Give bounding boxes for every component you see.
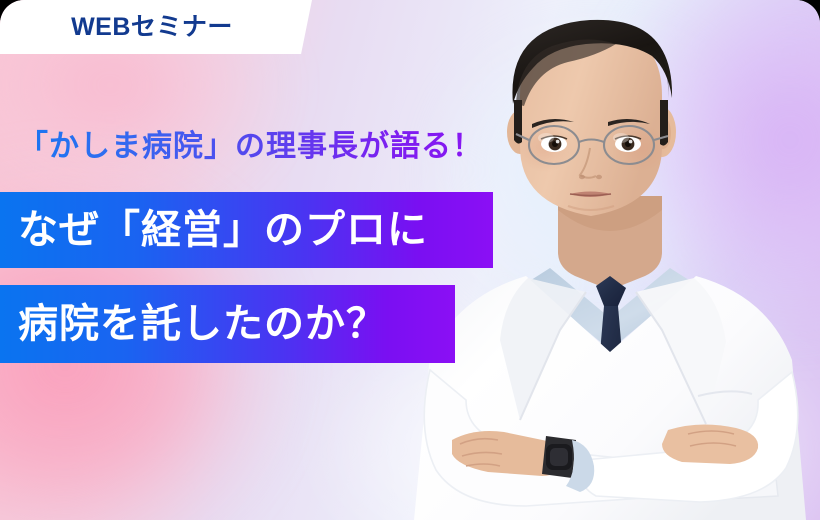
webinar-badge-label: WEBセミナー: [71, 15, 241, 40]
headline-block: 「かしま病院」の理事長が語る！ なぜ「経営」のプロに 病院を託したのか？: [0, 124, 493, 363]
headline-band-2: 病院を託したのか？: [0, 285, 455, 363]
headline-band-2-text: 病院を託したのか？: [0, 304, 387, 344]
webinar-badge: WEBセミナー: [0, 0, 312, 54]
headline-band-1: なぜ「経営」のプロに: [0, 192, 493, 268]
webinar-banner: WEBセミナー 「かしま病院」の理事長が語る！ なぜ「経営」のプロに 病院を託し…: [0, 0, 820, 520]
headline-band-1-text: なぜ「経営」のプロに: [0, 210, 428, 250]
headline-lead-line: 「かしま病院」の理事長が語る！: [0, 124, 493, 170]
